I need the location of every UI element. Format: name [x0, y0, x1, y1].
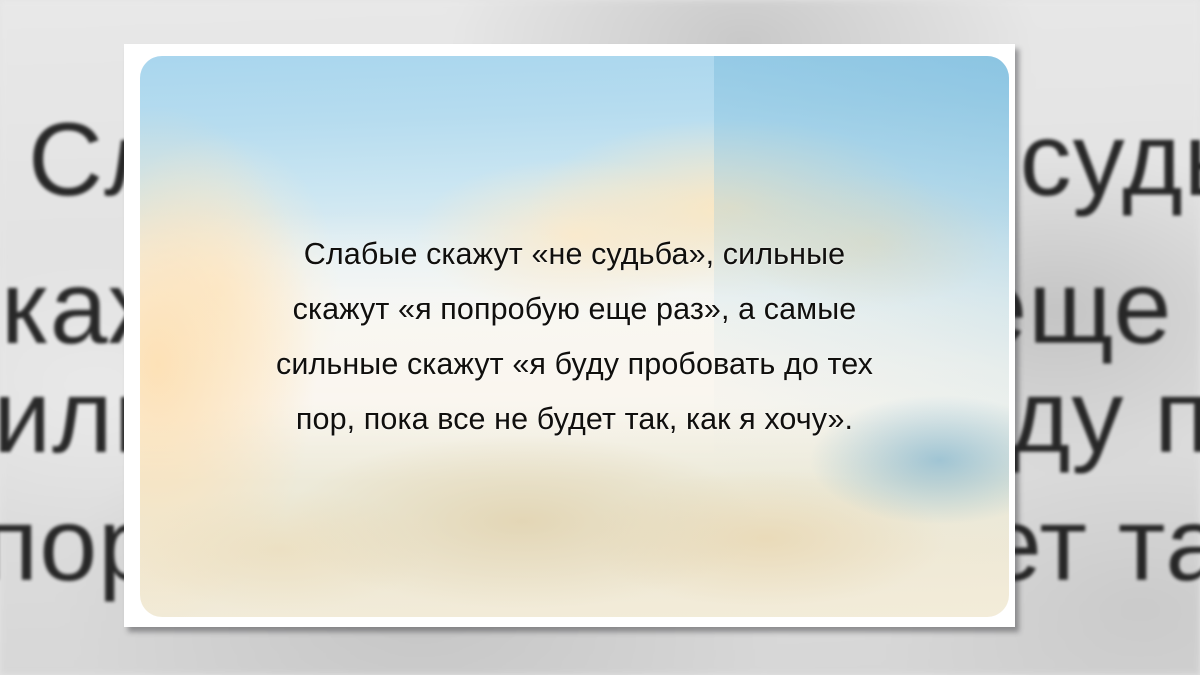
quote-line-1: Слабые скажут «не судьба», сильные	[174, 227, 975, 282]
screenshot-canvas: Слабые скажут «не судьба», сильные скажу…	[0, 0, 1200, 675]
quote-text: Слабые скажут «не судьба», сильные скажу…	[140, 227, 1009, 447]
sky-photo: Слабые скажут «не судьба», сильные скажу…	[140, 56, 1009, 617]
quote-line-4: пор, пока все не будет так, как я хочу».	[174, 392, 975, 447]
quote-line-3: сильные скажут «я буду пробовать до тех	[174, 337, 975, 392]
quote-card: Слабые скажут «не судьба», сильные скажу…	[124, 44, 1015, 627]
quote-line-2: скажут «я попробую еще раз», а самые	[174, 282, 975, 337]
